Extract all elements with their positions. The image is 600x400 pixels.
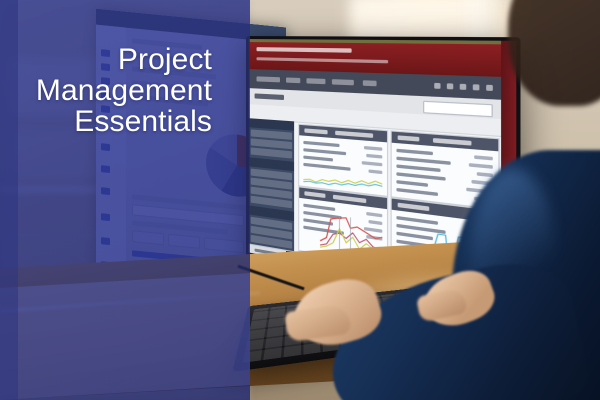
panel-value	[469, 163, 493, 169]
panel-value	[369, 169, 383, 174]
panel-title	[304, 191, 325, 198]
app-header-subtitle	[256, 57, 388, 63]
summary-panel	[298, 124, 388, 197]
panel-label	[396, 172, 445, 180]
panel-subtitle	[335, 131, 373, 138]
panel-subtitle	[333, 195, 366, 203]
promo-banner: ◉ Project Management Essential	[0, 0, 600, 400]
toolbar-icon[interactable]	[460, 84, 467, 90]
toolbar-menu-item[interactable]	[332, 79, 354, 85]
toolbar-menu-item[interactable]	[363, 80, 377, 86]
panel-label	[303, 155, 333, 161]
panel-label	[396, 180, 428, 187]
toolbar-icon[interactable]	[473, 84, 480, 90]
title-line-1: Project	[0, 44, 212, 75]
toolbar-icon[interactable]	[434, 83, 440, 89]
panel-title	[398, 135, 420, 141]
panel-subtitle	[433, 138, 472, 146]
data-grid-row[interactable]	[251, 147, 292, 158]
panel-label	[396, 157, 450, 165]
title-line-2: Management	[0, 75, 212, 106]
panel-value	[364, 146, 382, 151]
page-title: Project Management Essentials	[0, 44, 212, 137]
panel-title	[304, 128, 327, 134]
app-header-title	[256, 47, 351, 53]
panel-title	[398, 203, 430, 211]
toolbar-icon[interactable]	[447, 83, 453, 89]
panel-label	[396, 188, 438, 196]
panel-label	[303, 148, 346, 155]
title-line-3: Essentials	[0, 106, 212, 137]
panel-value	[474, 155, 493, 160]
toolbar-menu-item[interactable]	[306, 78, 325, 84]
toolbar-icon[interactable]	[486, 85, 493, 91]
panel-value	[366, 154, 382, 159]
panel-value	[362, 161, 383, 166]
overlay-light-wedge	[0, 273, 250, 400]
panel-value	[477, 172, 493, 177]
panel-label	[396, 149, 433, 156]
toolbar-menu-item[interactable]	[256, 76, 280, 82]
data-grid-sidebar[interactable]	[249, 118, 294, 251]
document-tab-label	[255, 93, 284, 100]
panel-label	[303, 141, 339, 147]
toolbar-menu-item[interactable]	[286, 77, 300, 83]
panel-label	[396, 164, 440, 172]
